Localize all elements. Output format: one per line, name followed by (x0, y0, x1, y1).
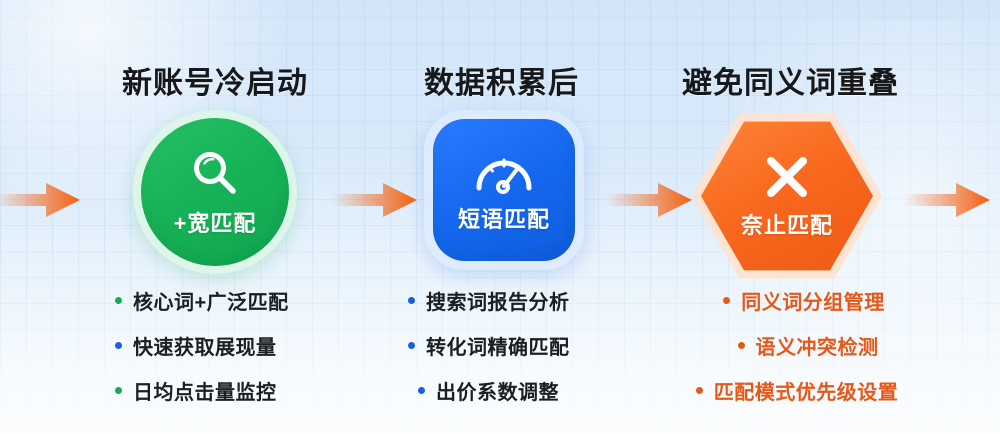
stage-2-bullet-list: 搜索词报告分析 转化词精确匹配 出价系数调整 (408, 286, 628, 421)
flow-arrow-1-to-2 (331, 180, 417, 220)
list-item: 转化词精确匹配 (408, 331, 628, 360)
bullet-label: 匹配模式优先级设置 (714, 376, 899, 405)
stage-3-heading: 避免同义词重叠 (682, 58, 899, 102)
stage-2-shape: 短语匹配 (424, 110, 584, 270)
stage-2-halo: 短语匹配 (424, 110, 584, 270)
list-item: 同义词分组管理 (672, 286, 922, 315)
stage-2-heading: 数据积累后 (424, 58, 579, 102)
stage-1-bullet-list: 核心词+广泛匹配 快速获取展现量 日均点击量监控 (115, 286, 355, 421)
bullet-dot (115, 297, 122, 304)
flow-arrow-2-to-3 (606, 180, 692, 220)
bullet-label: 同义词分组管理 (741, 286, 885, 315)
bullet-label: 搜索词报告分析 (426, 286, 570, 315)
bullet-label: 出价系数调整 (436, 376, 559, 405)
bullet-dot (115, 387, 122, 394)
list-item: 核心词+广泛匹配 (115, 286, 355, 315)
close-x-icon (762, 152, 812, 202)
list-item: 快速获取展现量 (115, 331, 355, 360)
list-item: 搜索词报告分析 (408, 286, 628, 315)
stage-3-halo: 奈止匹配 (692, 110, 882, 282)
bullet-dot (408, 342, 415, 349)
list-item: 语义冲突检测 (672, 331, 922, 360)
bullet-label: 转化词精确匹配 (426, 331, 570, 360)
list-item: 日均点击量监控 (115, 376, 355, 405)
stage-3-badge-label: 奈止匹配 (741, 208, 833, 240)
stage-1-halo: +宽匹配 (133, 110, 297, 274)
magnifier-icon (188, 146, 242, 200)
bullet-dot (418, 387, 425, 394)
bullet-dot (408, 297, 415, 304)
stage-3-bullet-list: 同义词分组管理 语义冲突检测 匹配模式优先级设置 (672, 286, 922, 421)
bullet-label: 语义冲突检测 (756, 331, 879, 360)
bullet-label: 日均点击量监控 (133, 376, 277, 405)
flow-arrow-right-edge (904, 180, 990, 220)
bullet-label: 核心词+广泛匹配 (133, 286, 289, 315)
bullet-dot (723, 297, 730, 304)
stage-1-badge-label: +宽匹配 (174, 206, 257, 238)
stage-1-heading: 新账号冷启动 (122, 58, 308, 102)
bullet-dot (696, 387, 703, 394)
stage-1-shape: +宽匹配 (133, 110, 297, 274)
list-item: 出价系数调整 (408, 376, 628, 405)
bullet-dot (115, 342, 122, 349)
stage-3-shape: 奈止匹配 (692, 110, 882, 282)
stage-2-square: 短语匹配 (433, 119, 575, 261)
gauge-icon (473, 146, 535, 196)
infographic-canvas: 新账号冷启动 数据积累后 避免同义词重叠 (0, 0, 1000, 434)
list-item: 匹配模式优先级设置 (672, 376, 922, 405)
flow-arrow-left-edge (0, 180, 80, 220)
stage-1-circle: +宽匹配 (141, 118, 289, 266)
bullet-label: 快速获取展现量 (133, 331, 277, 360)
bullet-dot (738, 342, 745, 349)
stage-2-badge-label: 短语匹配 (458, 202, 550, 234)
stage-3-hexagon: 奈止匹配 (701, 119, 873, 274)
